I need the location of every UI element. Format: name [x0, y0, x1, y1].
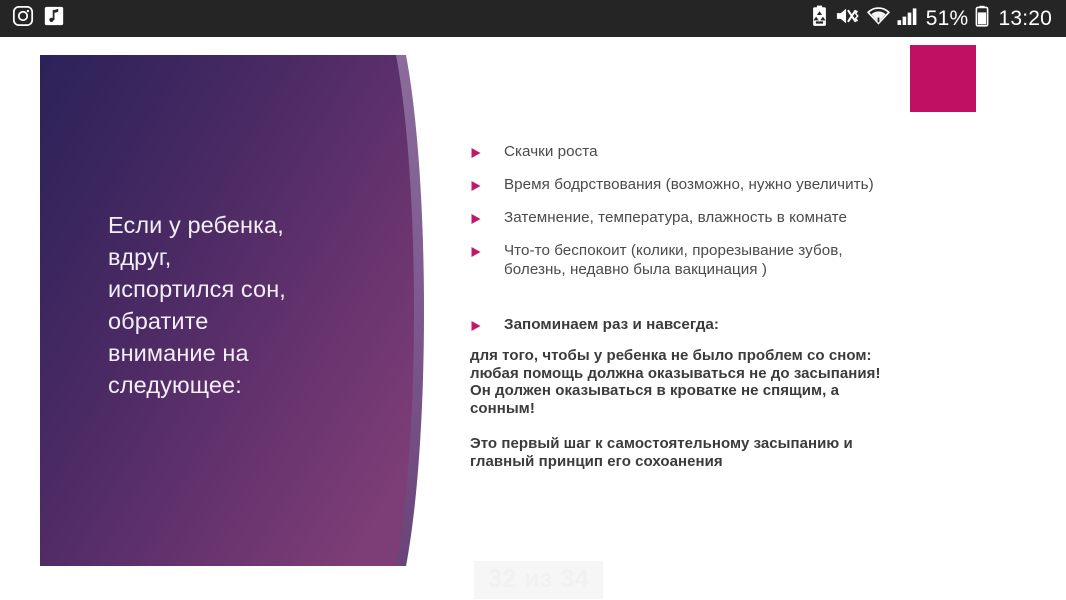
emphasis-list-item-label: Запоминаем раз и навсегда: — [504, 315, 719, 334]
android-status-bar[interactable]: 51% 13:20 — [0, 0, 1066, 37]
list-item: Время бодрствования (возможно, нужно уве… — [470, 175, 990, 194]
battery-saver-icon — [811, 5, 828, 32]
list-item-label: Скачки роста — [504, 142, 598, 161]
status-bar-right-icons: 51% 13:20 — [811, 5, 1052, 32]
emphasis-list-item: Запоминаем раз и навсегда: — [470, 315, 990, 334]
page-indicator: 32 из 34 — [474, 561, 603, 599]
signal-bars-icon — [897, 5, 919, 32]
presentation-slide[interactable]: Если у ребенка, вдруг, испортился сон, о… — [0, 37, 1066, 600]
triangle-bullet-icon — [470, 213, 482, 225]
instagram-icon — [12, 5, 34, 32]
slide-title: Если у ребенка, вдруг, испортился сон, о… — [108, 209, 370, 401]
body-paragraph-1: для того, чтобы у ребенка не было пробле… — [470, 347, 990, 417]
title-panel: Если у ребенка, вдруг, испортился сон, о… — [40, 55, 430, 566]
status-bar-clock: 13:20 — [998, 7, 1052, 31]
battery-percent-label: 51% — [926, 7, 969, 31]
accent-block — [910, 45, 976, 112]
battery-icon — [975, 5, 989, 32]
list-item-label: Что-то беспокоит (колики, прорезывание з… — [504, 241, 843, 279]
slide-content: Скачки роста Время бодрствования (возмож… — [470, 142, 990, 488]
list-item-label: Затемнение, температура, влажность в ком… — [504, 208, 847, 227]
mute-vibrate-icon — [835, 5, 860, 32]
list-item: Затемнение, температура, влажность в ком… — [470, 208, 990, 227]
list-item: Скачки роста — [470, 142, 990, 161]
body-paragraph-2: Это первый шаг к самостоятельному засыпа… — [470, 435, 990, 470]
triangle-bullet-icon — [470, 147, 482, 159]
wifi-icon — [867, 5, 890, 32]
list-item-label: Время бодрствования (возможно, нужно уве… — [504, 175, 874, 194]
music-note-icon — [43, 5, 65, 32]
status-bar-left-icons — [12, 5, 65, 32]
triangle-bullet-icon — [470, 246, 482, 258]
triangle-bullet-icon — [470, 180, 482, 192]
list-item: Что-то беспокоит (колики, прорезывание з… — [470, 241, 990, 279]
triangle-bullet-icon — [470, 320, 482, 332]
